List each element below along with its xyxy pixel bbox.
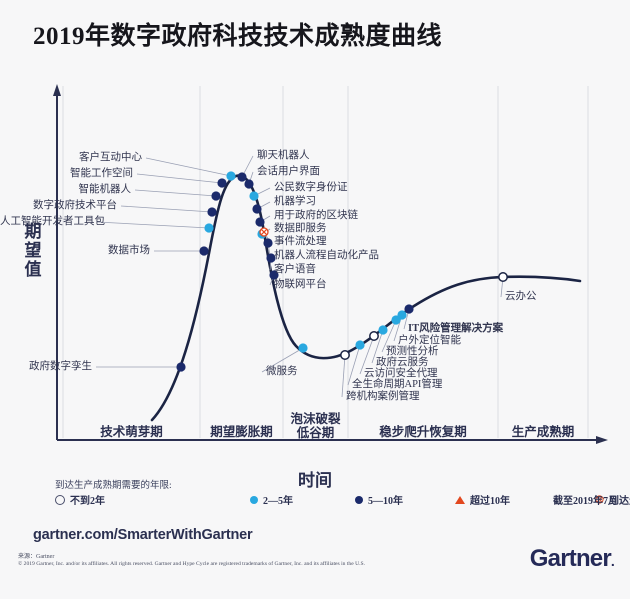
legend-item-label: 不到2年	[70, 492, 105, 507]
marker-5[interactable]	[217, 178, 226, 187]
point-label-1: 数据市场	[0, 245, 150, 257]
phase-label-5: 生产成熟期	[473, 425, 613, 439]
hype-cycle-figure: 2019年数字政府科技技术成熟度曲线 期望值 时间 技术萌芽期期望膨胀期泡沫破裂…	[0, 0, 630, 599]
marker-6[interactable]	[226, 171, 235, 180]
marker-23[interactable]	[397, 310, 406, 319]
point-label-2: 人工智能开发者工具包	[0, 216, 93, 228]
point-label-16: 物联网平台	[274, 279, 327, 291]
marker-13[interactable]	[260, 228, 268, 236]
orange-triangle-icon	[455, 496, 465, 504]
phase-label-4: 稳步爬升恢复期	[353, 425, 493, 439]
marker-20[interactable]	[370, 332, 378, 340]
gartner-url-link[interactable]: gartner.com/SmarterWithGartner	[33, 527, 253, 543]
marker-14[interactable]	[263, 238, 272, 247]
navy-circle-icon	[355, 496, 363, 504]
point-label-15: 客户语音	[274, 264, 316, 276]
point-label-8: 会话用户界面	[257, 166, 320, 178]
point-label-19: 全生命周期API管理	[352, 379, 442, 391]
marker-1[interactable]	[199, 246, 208, 255]
point-label-7: 聊天机器人	[257, 150, 310, 162]
point-label-23: 户外定位智能	[398, 335, 461, 347]
marker-0[interactable]	[176, 362, 185, 371]
leader-line-2	[97, 222, 209, 228]
leader-line-5	[137, 174, 222, 183]
marker-9[interactable]	[249, 191, 258, 200]
legend-item-label: 2—5年	[263, 492, 293, 507]
point-label-3: 数字政府技术平台	[0, 200, 117, 212]
cyan-circle-icon	[250, 496, 258, 504]
point-label-25: 云办公	[505, 291, 537, 303]
hype-cycle-chart	[0, 0, 630, 470]
point-label-12: 数据即服务	[274, 223, 327, 235]
leader-line-6	[146, 158, 231, 176]
point-label-20: 云访问安全代理	[364, 368, 438, 380]
legend-title: 到达生产成熟期需要的年限:	[55, 477, 172, 491]
legend-item-3: 超过10年	[455, 492, 510, 507]
marker-8[interactable]	[244, 179, 253, 188]
point-label-13: 事件流处理	[274, 236, 327, 248]
marker-10[interactable]	[252, 204, 261, 213]
point-label-5: 智能工作空间	[0, 168, 133, 180]
open-circle-icon	[55, 495, 65, 505]
point-label-0: 政府数字孪生	[0, 361, 92, 373]
marker-3[interactable]	[207, 207, 216, 216]
point-label-24: IT风险管理解决方案	[408, 323, 503, 335]
legend: 不到2年2—5年5—10年超过10年到达生产成熟期前即被淘汰	[55, 492, 615, 508]
marker-2[interactable]	[204, 223, 213, 232]
marker-19[interactable]	[355, 340, 364, 349]
point-label-22: 预测性分析	[386, 346, 439, 358]
legend-item-label: 5—10年	[368, 492, 403, 507]
legend-as-of-date: 截至2019年7月	[553, 492, 618, 507]
phase-gridlines	[63, 86, 588, 438]
legend-item-2: 5—10年	[355, 492, 403, 507]
phase-label-line1: 稳步爬升恢复期	[353, 425, 493, 439]
gartner-logo-dot: .	[611, 553, 614, 569]
marker-25[interactable]	[499, 273, 507, 281]
copyright-note: © 2019 Gartner, Inc. and/or its affiliat…	[18, 561, 365, 567]
marker-11[interactable]	[255, 217, 264, 226]
legend-item-1: 2—5年	[250, 492, 293, 507]
point-label-9: 公民数字身份证	[274, 182, 348, 194]
marker-4[interactable]	[211, 191, 220, 200]
point-label-14: 机器人流程自动化产品	[274, 250, 379, 262]
gartner-logo-text: Gartner	[530, 545, 611, 572]
legend-item-0: 不到2年	[55, 492, 105, 507]
point-label-21: 政府云服务	[376, 357, 429, 369]
marker-7[interactable]	[237, 172, 246, 181]
leader-line-4	[135, 190, 216, 196]
marker-18[interactable]	[341, 351, 349, 359]
marker-17[interactable]	[298, 343, 307, 352]
leader-line-3	[121, 206, 212, 212]
point-label-4: 智能机器人	[0, 184, 131, 196]
phase-label-line1: 生产成熟期	[473, 425, 613, 439]
source-note: 来源：Gartner	[18, 551, 54, 560]
marker-21[interactable]	[378, 325, 387, 334]
point-label-17: 微服务	[266, 366, 298, 378]
point-label-6: 客户互动中心	[0, 152, 142, 164]
marker-24[interactable]	[404, 304, 413, 313]
legend-item-label: 超过10年	[470, 492, 510, 507]
y-axis	[53, 84, 61, 440]
phase-label-line1: 泡沫破裂	[246, 412, 386, 426]
point-label-18: 跨机构案例管理	[346, 391, 420, 403]
gartner-logo: Gartner.	[530, 545, 614, 573]
point-label-11: 用于政府的区块链	[274, 210, 358, 222]
leader-line-18	[342, 355, 345, 397]
point-label-10: 机器学习	[274, 196, 316, 208]
